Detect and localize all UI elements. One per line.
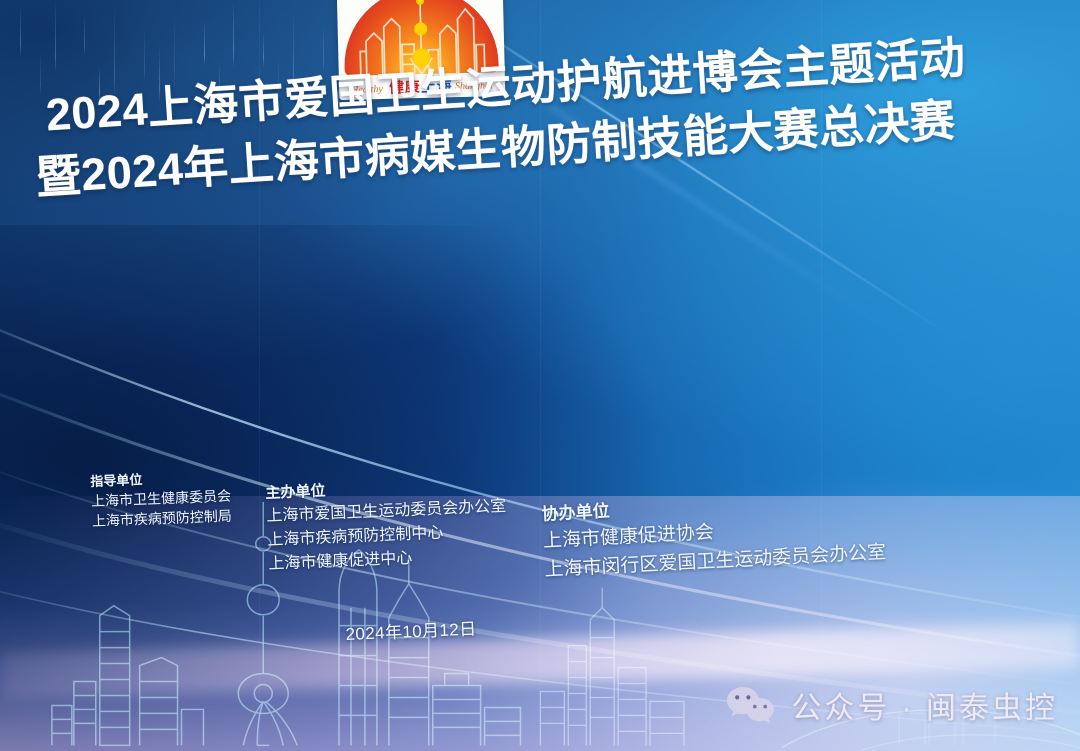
wechat-watermark: 公众号 · 闽泰虫控 [725,683,1058,727]
wechat-icon [725,685,777,725]
watermark-text: 公众号 · 闽泰虫控 [791,683,1058,727]
event-backdrop-photo: Healthy 健康 上海 Shanghai 2024上海市爱国卫生运动护航进博… [0,0,1080,751]
